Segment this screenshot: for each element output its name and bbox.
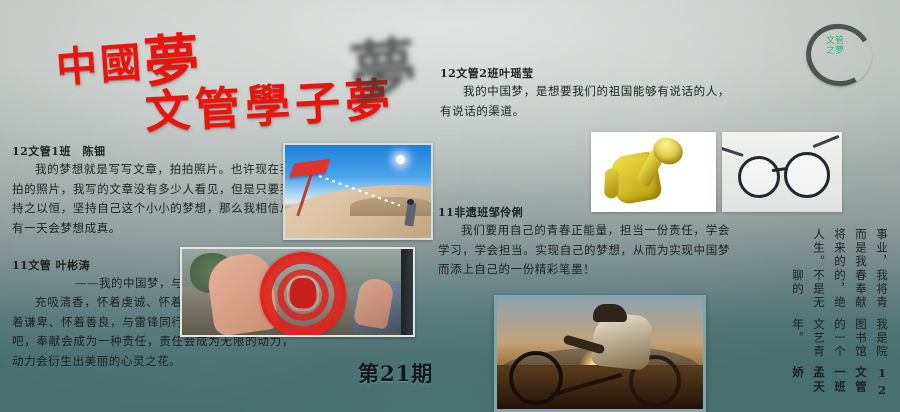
jade-arc-ornament: 文管之夢 <box>806 24 868 82</box>
vertical-line-2: 我将青春奉献的，绝不是无聊的 <box>787 269 892 317</box>
vertical-line-1: 我是院图书馆的一个文艺青年。 <box>787 318 892 366</box>
ornament-glyph-text: 文管之夢 <box>826 36 844 56</box>
far-dune-shape <box>350 197 433 216</box>
article-zou-body: 我们要用自己的青春正能量，担当一份责任，学会学习，学会担当。实现自己的梦想，从而… <box>438 221 730 280</box>
poster-canvas: 中國夢 文管學子夢 夢 文管之夢 12文管1班 陈钿 我的梦想就是写写文章，拍拍… <box>0 0 900 412</box>
article-chen-body: 我的梦想就是写写文章，拍拍照片。也许现在我拍的照片，我写的文章没有多少人看见，但… <box>12 160 292 238</box>
cyclist-helmet <box>593 304 627 322</box>
vertical-line-3: 事业，而是我将来的人生。 <box>787 228 892 269</box>
article-meng-vertical: 事业，而是我将来的人生。 我将青春奉献的，绝不是无聊的 我是院图书馆的一个文艺青… <box>785 228 892 404</box>
desert-kite-photo <box>283 143 433 240</box>
glasses-right-arm <box>812 135 839 148</box>
window-post-shape <box>401 249 413 335</box>
article-zou: 11非遗班邹伶俐 我们要用自己的青春正能量，担当一份责任，学会学习，学会担当。实… <box>438 205 730 280</box>
title-line-1-small: 中國 <box>55 38 146 92</box>
glasses-right-lens <box>784 152 830 198</box>
papercut-leifeng-photo <box>180 247 415 337</box>
glasses-left-arm <box>722 146 744 157</box>
red-papercut-circle <box>260 252 346 337</box>
round-glasses-photo <box>722 132 842 212</box>
issue-number: 第21期 <box>358 358 433 388</box>
glasses-left-lens <box>738 156 780 198</box>
vertical-byline: 12文管一班 孟天娇 <box>787 366 892 404</box>
sunset-cyclist-photo <box>494 295 706 412</box>
kite-flyer-head <box>407 199 414 205</box>
article-chen-byline: 12文管1班 陈钿 <box>12 144 292 160</box>
article-ye-body: 我的中国梦，是想要我们的祖国能够有说话的人，有说话的渠道。 <box>440 82 730 121</box>
article-chen: 12文管1班 陈钿 我的梦想就是写写文章，拍拍照片。也许现在我拍的照片，我写的文… <box>12 144 292 238</box>
sun-icon <box>396 155 405 164</box>
bike-front-wheel <box>509 351 563 405</box>
article-ye-byline: 12文管2班叶瑶莹 <box>440 66 730 82</box>
article-ye: 12文管2班叶瑶莹 我的中国梦，是想要我们的祖国能够有说话的人，有说话的渠道。 <box>440 66 730 121</box>
title-shadow-glyph: 夢 <box>345 15 421 117</box>
gold-microphone-photo <box>591 132 716 212</box>
